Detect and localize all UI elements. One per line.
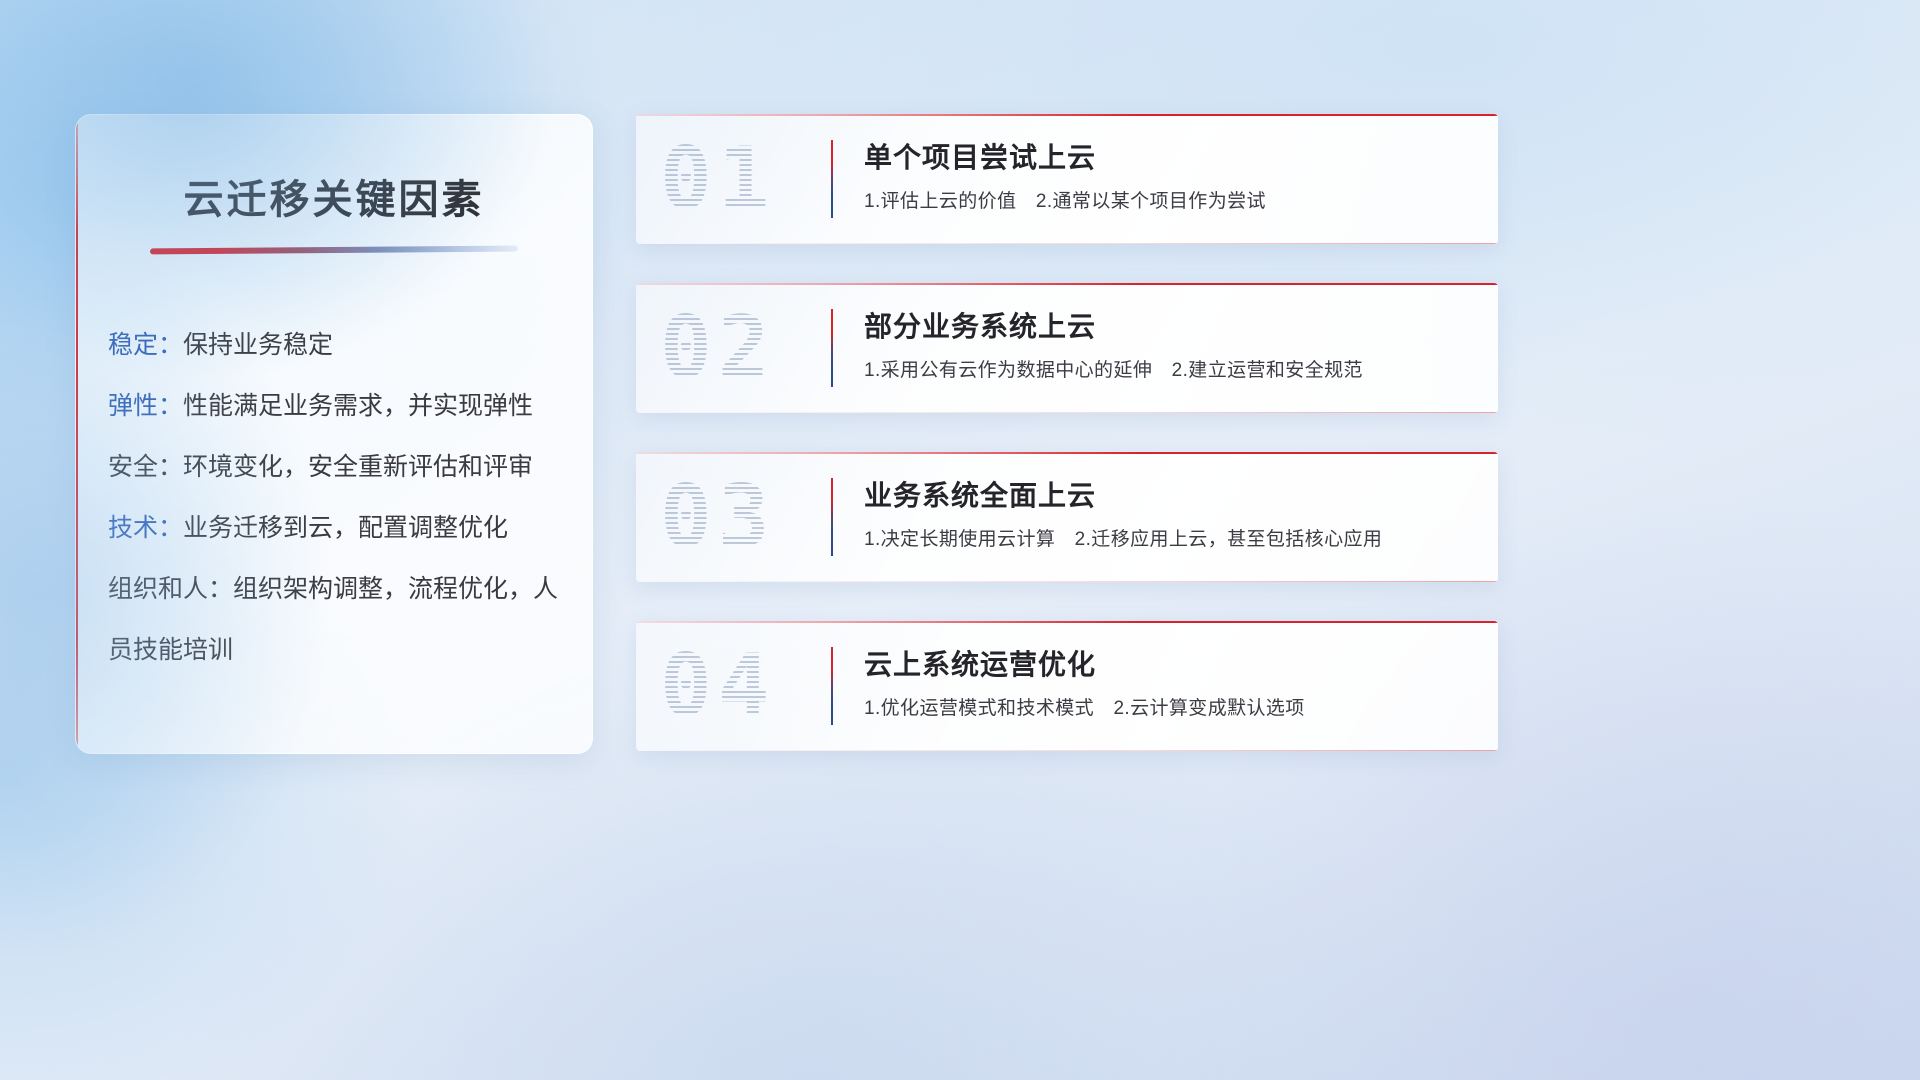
list-item-label: 技术： [108, 514, 183, 542]
list-item-label: 稳定： [108, 331, 183, 359]
title-underline-accent [150, 246, 518, 255]
list-item-label: 弹性： [108, 392, 183, 420]
step-description: 1.评估上云的价值 2.通常以某个项目作为尝试 [864, 188, 1478, 216]
list-item-text: 保持业务稳定 [183, 331, 333, 359]
page-title: 云迁移关键因素 [76, 167, 592, 225]
step-title: 部分业务系统上云 [864, 307, 1478, 347]
list-item-label: 组织和人： [108, 575, 233, 603]
list-item: 组织和人：组织架构调整，流程优化，人员技能培训 [108, 559, 566, 681]
list-item-label: 安全： [108, 453, 183, 481]
step-description: 1.决定长期使用云计算 2.迁移应用上云，甚至包括核心应用 [864, 526, 1478, 554]
list-item: 技术：业务迁移到云，配置调整优化 [108, 498, 566, 559]
step-number-watermark: 02 [660, 298, 776, 398]
migration-steps-list: 01 单个项目尝试上云 1.评估上云的价值 2.通常以某个项目作为尝试 02 部… [636, 114, 1498, 790]
step-number-watermark: 01 [660, 129, 776, 229]
list-item: 弹性：性能满足业务需求，并实现弹性 [108, 376, 566, 437]
step-content: 单个项目尝试上云 1.评估上云的价值 2.通常以某个项目作为尝试 [864, 138, 1478, 216]
list-item: 安全：环境变化，安全重新评估和评审 [108, 437, 566, 498]
step-title: 云上系统运营优化 [864, 645, 1478, 685]
step-content: 云上系统运营优化 1.优化运营模式和技术模式 2.云计算变成默认选项 [864, 645, 1478, 723]
list-item: 稳定：保持业务稳定 [108, 315, 566, 376]
step-card-01[interactable]: 01 单个项目尝试上云 1.评估上云的价值 2.通常以某个项目作为尝试 [636, 114, 1498, 244]
step-title: 业务系统全面上云 [864, 476, 1478, 516]
step-divider-accent [831, 478, 833, 556]
step-number-watermark: 04 [660, 636, 776, 736]
list-item-text: 环境变化，安全重新评估和评审 [183, 453, 533, 481]
list-item-text: 性能满足业务需求，并实现弹性 [183, 392, 533, 420]
step-card-04[interactable]: 04 云上系统运营优化 1.优化运营模式和技术模式 2.云计算变成默认选项 [636, 621, 1498, 751]
step-divider-accent [831, 647, 833, 725]
step-title: 单个项目尝试上云 [864, 138, 1478, 178]
step-card-02[interactable]: 02 部分业务系统上云 1.采用公有云作为数据中心的延伸 2.建立运营和安全规范 [636, 283, 1498, 413]
step-description: 1.优化运营模式和技术模式 2.云计算变成默认选项 [864, 695, 1478, 723]
step-card-03[interactable]: 03 业务系统全面上云 1.决定长期使用云计算 2.迁移应用上云，甚至包括核心应… [636, 452, 1498, 582]
key-factors-panel: 云迁移关键因素 稳定：保持业务稳定 弹性：性能满足业务需求，并实现弹性 安全：环… [75, 114, 593, 754]
step-number-watermark: 03 [660, 467, 776, 567]
slide-canvas: 云迁移关键因素 稳定：保持业务稳定 弹性：性能满足业务需求，并实现弹性 安全：环… [0, 0, 1920, 1080]
step-content: 部分业务系统上云 1.采用公有云作为数据中心的延伸 2.建立运营和安全规范 [864, 307, 1478, 385]
list-item-text: 业务迁移到云，配置调整优化 [183, 514, 508, 542]
key-factors-list: 稳定：保持业务稳定 弹性：性能满足业务需求，并实现弹性 安全：环境变化，安全重新… [76, 315, 592, 681]
step-divider-accent [831, 309, 833, 387]
step-divider-accent [831, 140, 833, 218]
step-content: 业务系统全面上云 1.决定长期使用云计算 2.迁移应用上云，甚至包括核心应用 [864, 476, 1478, 554]
step-description: 1.采用公有云作为数据中心的延伸 2.建立运营和安全规范 [864, 357, 1478, 385]
